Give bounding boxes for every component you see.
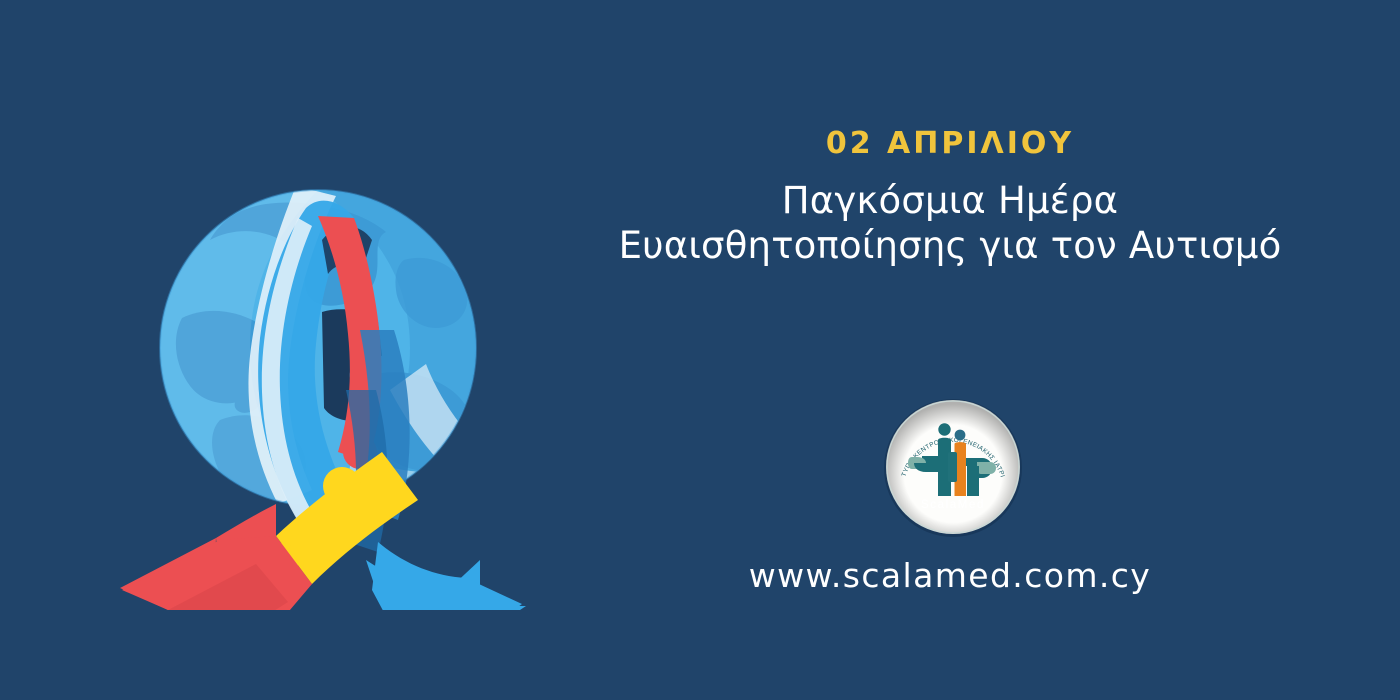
autism-awareness-globe-ribbon-illustration bbox=[60, 90, 580, 610]
poster-canvas: 02 ΑΠΡΙΛΙΟΥ Παγκόσμια Ημέρα Ευαισθητοποί… bbox=[0, 0, 1400, 700]
content-column: 02 ΑΠΡΙΛΙΟΥ Παγκόσμια Ημέρα Ευαισθητοποί… bbox=[600, 0, 1400, 700]
logo-brand-name: ScalaMed bbox=[921, 499, 985, 511]
headline-line-1: Παγκόσμια Ημέρα bbox=[600, 178, 1300, 223]
page-title: Παγκόσμια Ημέρα Ευαισθητοποίησης για τον… bbox=[600, 178, 1300, 268]
scalamed-logo-badge: ΠΡΟΤΥΠΟ ΚΕΝΤΡΟ ΟΙΚΟΓΕΝΕΙΑΚΗΣ ΙΑΤΡΙΚΗΣ bbox=[882, 396, 1024, 538]
website-url: www.scalamed.com.cy bbox=[600, 556, 1300, 595]
headline-line-2: Ευαισθητοποίησης για τον Αυτισμό bbox=[600, 223, 1300, 268]
date-banner: 02 ΑΠΡΙΛΙΟΥ bbox=[600, 126, 1300, 161]
